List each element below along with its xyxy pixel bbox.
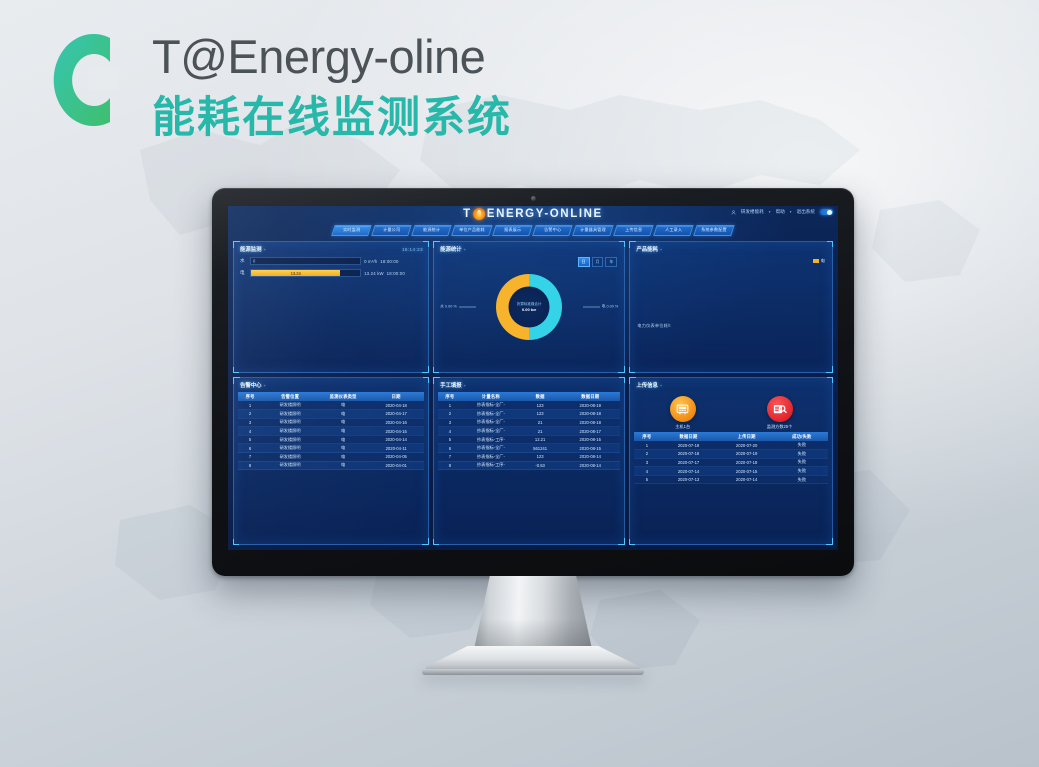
cell: 2020-07-19 — [660, 441, 718, 450]
exit-toggle[interactable] — [820, 209, 833, 215]
energy-time-water: 18:00:00 — [380, 259, 398, 264]
panel-product-energy: 产品能耗 + 电 电力仪表单位耗/t — [629, 241, 833, 373]
cell: 2020-04-18 — [368, 401, 424, 410]
table-row: 6抄表指标-全厂-5612412020-08-15 — [438, 444, 620, 453]
cell: 4 — [634, 467, 659, 476]
exit-label: 退出系统 — [797, 209, 815, 215]
table-row: 1抄表指标-全厂-1232020-08-19 — [438, 401, 620, 410]
nav-tab-label-7: 上传信息 — [625, 228, 642, 234]
cell: 2020-08-14 — [560, 453, 620, 462]
table-row: 2抄表指标-全厂-1232020-08-18 — [438, 410, 620, 419]
th-manual-0: 序号 — [438, 392, 462, 401]
panel-title-text: 能源监测 — [240, 245, 262, 253]
cell: 2020-04-17 — [368, 410, 424, 419]
alarm-table-wrap[interactable]: 序号 告警位置 监测仪表类型 日期 1研发楼照明电2020-04-18 2研发楼… — [234, 391, 428, 543]
status-badge: 失败 — [776, 475, 828, 484]
cell: 电 — [318, 444, 368, 453]
cell: 7 — [438, 453, 462, 462]
cell: 123 — [520, 453, 560, 462]
energy-time-electric: 18:00:00 — [387, 271, 405, 276]
energy-row-electric: 电 13.24 13.24 kW 18:00:00 — [234, 267, 428, 279]
cell: 2020-04-11 — [368, 444, 424, 453]
nav-tab-5[interactable]: 告警中心 — [532, 225, 572, 236]
energy-row-water: 水 0 0 m³/h 18:00:00 — [234, 255, 428, 267]
meter-device-icon — [670, 396, 696, 422]
product-empty-text: 电力仪表单位耗/t — [637, 323, 670, 329]
donut-chart: 水 0.00 % 折算标准煤合计 0.00 tce 电 0.00 % — [434, 259, 624, 355]
brand-header: T@Energy-oline 能耗在线监测系统 — [46, 24, 606, 154]
app-logo: T ENERGY-ONLINE — [463, 208, 603, 220]
upload-stat-label-points: 监测方数25个 — [767, 424, 793, 430]
cell: 2020-07-20 — [718, 441, 776, 450]
cell: 4 — [238, 427, 262, 436]
cell: 2020-04-14 — [368, 435, 424, 444]
table-row: 52020-07-132020-07-14失败 — [634, 475, 828, 484]
manual-table: 序号 计量名称 数据 数据日期 1抄表指标-全厂-1232020-08-19 2… — [438, 392, 620, 470]
cell: 研发楼照明 — [262, 461, 318, 470]
th-upload-2: 上传日期 — [718, 432, 776, 441]
cell: 6 — [438, 444, 462, 453]
cell: 5 — [438, 435, 462, 444]
cell: 电 — [318, 418, 368, 427]
cell: 研发楼照明 — [262, 427, 318, 436]
table-row: 5抄表指标-工序-12.212020-08-15 — [438, 435, 620, 444]
nav-tab-label-2: 能源统计 — [423, 228, 440, 234]
nav-tab-label-0: 实时监测 — [343, 228, 360, 234]
monitor: T ENERGY-ONLINE 研发楼能耗 ▾ 帮助 ▾ 退出系统 — [212, 188, 854, 576]
cell: 6 — [238, 444, 262, 453]
table-header-row: 序号 告警位置 监测仪表类型 日期 — [238, 392, 424, 401]
cell: 电 — [318, 427, 368, 436]
user-icon — [731, 210, 736, 215]
th-manual-1: 计量名称 — [462, 392, 520, 401]
upload-stat-host[interactable]: 主机1台 — [670, 396, 696, 430]
donut-center-line2: 0.00 tce — [509, 307, 549, 312]
alarm-table-body: 1研发楼照明电2020-04-18 2研发楼照明电2020-04-17 3研发楼… — [238, 401, 424, 470]
nav-tab-1[interactable]: 计量公司 — [372, 225, 412, 236]
table-row: 5研发楼照明电2020-04-14 — [238, 435, 424, 444]
cell: 抄表指标-全厂- — [462, 453, 520, 462]
cell: 8 — [438, 461, 462, 470]
cell: 2020-08-18 — [560, 410, 620, 419]
cell: 2020-07-18 — [660, 450, 718, 459]
panel-alarm-center: 告警中心 + 序号 告警位置 监测仪表类型 日期 1研发 — [233, 377, 429, 545]
cell: 123 — [520, 410, 560, 419]
cell: 2020-08-14 — [560, 461, 620, 470]
cell: 12.21 — [520, 435, 560, 444]
cell: 8 — [238, 461, 262, 470]
chevron-down-icon-2[interactable]: ▾ — [790, 210, 792, 214]
status-badge: 失败 — [776, 467, 828, 476]
nav-tab-label-8: 人工录入 — [665, 228, 682, 234]
donut-center-label: 折算标准煤合计 0.00 tce — [509, 302, 549, 312]
energy-bar-electric: 13.24 — [250, 269, 361, 277]
status-badge: 失败 — [776, 458, 828, 467]
panel-title-text-upload: 上传信息 — [636, 381, 658, 389]
monitor-base-lip — [422, 669, 644, 675]
cell: 2020-08-17 — [560, 427, 620, 436]
table-row: 12020-07-192020-07-20失败 — [634, 441, 828, 450]
nav-tab-3[interactable]: 单位产品能耗 — [452, 225, 493, 236]
energy-unit-electric: 13.24 kW 18:00:00 — [364, 271, 422, 276]
cell: 抄表指标-全厂- — [462, 410, 520, 419]
cell: 2020-08-19 — [560, 401, 620, 410]
webcam-icon — [531, 196, 536, 201]
table-row: 32020-07-172020-07-18失败 — [634, 458, 828, 467]
cell: 5 — [238, 435, 262, 444]
cell: 2020-04-01 — [368, 461, 424, 470]
panel-title-product-energy: 产品能耗 + — [630, 242, 832, 255]
cell: 抄表指标-工序- — [462, 435, 520, 444]
cell: 抄表指标-工序- — [462, 461, 520, 470]
panel-row-top: 能源监测 + 16:14:23 水 0 0 m³/h 18:00:00 — [228, 237, 838, 373]
monitor-screen: T ENERGY-ONLINE 研发楼能耗 ▾ 帮助 ▾ 退出系统 — [228, 206, 838, 550]
nav-tab-0[interactable]: 实时监测 — [332, 225, 372, 236]
cell: 2020-08-15 — [560, 444, 620, 453]
legend-label-electric: 电 — [821, 258, 825, 264]
table-row: 8抄表指标-工序--0.532020-08-14 — [438, 461, 620, 470]
panel-title-text-alarm: 告警中心 — [240, 381, 262, 389]
cell: 2020-04-05 — [368, 453, 424, 462]
cell: 2020-07-19 — [718, 450, 776, 459]
cell: 研发楼照明 — [262, 410, 318, 419]
table-row: 3抄表指标-全厂-212020-08-18 — [438, 418, 620, 427]
cell: 研发楼照明 — [262, 444, 318, 453]
upload-stat-points[interactable]: 监测方数25个 — [767, 396, 793, 430]
cell: 561241 — [520, 444, 560, 453]
cell: 电 — [318, 401, 368, 410]
cell: 2 — [238, 410, 262, 419]
panel-row-bottom: 告警中心 + 序号 告警位置 监测仪表类型 日期 1研发 — [228, 373, 838, 550]
cell: 1 — [238, 401, 262, 410]
expand-icon[interactable]: + — [264, 247, 266, 252]
cell: 4 — [438, 427, 462, 436]
cell: 2020-07-14 — [718, 475, 776, 484]
panel-title-text-product: 产品能耗 — [636, 245, 658, 253]
cell: 2 — [438, 410, 462, 419]
table-row: 22020-07-182020-07-19失败 — [634, 450, 828, 459]
table-row: 7抄表指标-全厂-1232020-08-14 — [438, 453, 620, 462]
nav-tab-label-3: 单位产品能耗 — [459, 228, 485, 234]
cell: 研发楼照明 — [262, 453, 318, 462]
energy-row-label-electric: 电 — [240, 270, 247, 276]
panel-time: 16:14:23 — [402, 247, 423, 252]
energy-bar-value-water: 0 — [253, 259, 255, 264]
user-name: 研发楼能耗 — [741, 209, 764, 215]
energy-bar-water: 0 — [250, 257, 361, 265]
expand-icon-stats[interactable]: + — [464, 247, 466, 252]
panel-energy-stats: 能源统计 + 日 月 年 水 0.00 % — [433, 241, 625, 373]
cell: 2020-07-15 — [718, 467, 776, 476]
brand-title-en: T@Energy-oline — [152, 24, 512, 90]
expand-icon-manual[interactable]: + — [464, 383, 466, 388]
th-alarm-1: 告警位置 — [262, 392, 318, 401]
cell: 21 — [520, 427, 560, 436]
cell: 2020-07-18 — [718, 458, 776, 467]
table-row: 8研发楼照明电2020-04-01 — [238, 461, 424, 470]
cell: 抄表指标-全厂- — [462, 427, 520, 436]
th-manual-2: 数据 — [520, 392, 560, 401]
main-nav: 实时监测 计量公司 能源统计 单位产品能耗 报表展示 告警中心 计量器具管理 上… — [228, 224, 838, 237]
nav-tab-label-5: 告警中心 — [544, 228, 561, 234]
panel-title-text-manual: 手工填报 — [440, 381, 462, 389]
dashboard-app: T ENERGY-ONLINE 研发楼能耗 ▾ 帮助 ▾ 退出系统 — [228, 206, 838, 550]
cell: 123 — [520, 401, 560, 410]
cell: 7 — [238, 453, 262, 462]
cell: 3 — [438, 418, 462, 427]
table-row: 2研发楼照明电2020-04-17 — [238, 410, 424, 419]
cell: 1 — [634, 441, 659, 450]
c-swoosh-logo-icon — [52, 28, 118, 132]
expand-icon-upload[interactable]: + — [660, 383, 662, 388]
energy-unit-text-electric: 13.24 kW — [364, 271, 384, 276]
app-logo-suffix: ENERGY-ONLINE — [487, 208, 603, 220]
nav-tab-label-6: 计量器具管理 — [580, 228, 606, 234]
table-header-row: 序号 计量名称 数据 数据日期 — [438, 392, 620, 401]
energy-row-label-water: 水 — [240, 258, 247, 264]
cell: 3 — [634, 458, 659, 467]
donut-label-left-text: 水 0.00 % — [440, 305, 457, 310]
nav-tab-6[interactable]: 计量器具管理 — [572, 225, 613, 236]
cell: 3 — [238, 418, 262, 427]
cell: 2020-07-17 — [660, 458, 718, 467]
flame-at-icon — [473, 208, 485, 220]
panel-title-energy-monitor: 能源监测 + 16:14:23 — [234, 242, 428, 255]
panel-manual-entry: 手工填报 + 序号 计量名称 数据 数据日期 1抄表指标 — [433, 377, 625, 545]
th-alarm-3: 日期 — [368, 392, 424, 401]
product-legend: 电 — [813, 258, 825, 264]
cell: 2020-07-13 — [660, 475, 718, 484]
table-row: 4研发楼照明电2020-04-15 — [238, 427, 424, 436]
th-upload-0: 序号 — [634, 432, 659, 441]
nav-tab-9[interactable]: 系统参数配置 — [693, 225, 734, 236]
user-area[interactable]: 研发楼能耗 ▾ 帮助 ▾ 退出系统 — [731, 209, 833, 215]
expand-icon-alarm[interactable]: + — [264, 383, 266, 388]
status-badge: 失败 — [776, 441, 828, 450]
th-upload-1: 数据日期 — [660, 432, 718, 441]
cell: 2020-07-14 — [660, 467, 718, 476]
cell: 电 — [318, 461, 368, 470]
cell: 研发楼照明 — [262, 418, 318, 427]
app-topbar: T ENERGY-ONLINE 研发楼能耗 ▾ 帮助 ▾ 退出系统 — [228, 206, 838, 224]
energy-unit-text-water: 0 m³/h — [364, 259, 377, 264]
nav-tab-label-1: 计量公司 — [383, 228, 400, 234]
panel-title-manual-entry: 手工填报 + — [434, 378, 624, 391]
cell: 抄表指标-全厂- — [462, 418, 520, 427]
table-row: 6研发楼照明电2020-04-11 — [238, 444, 424, 453]
cell: 2020-08-18 — [560, 418, 620, 427]
manual-table-body: 1抄表指标-全厂-1232020-08-19 2抄表指标-全厂-1232020-… — [438, 401, 620, 470]
upload-table-body: 12020-07-192020-07-20失败 22020-07-182020-… — [634, 441, 828, 484]
cell: 电 — [318, 453, 368, 462]
monitor-neck — [473, 576, 593, 654]
expand-icon-product[interactable]: + — [660, 247, 662, 252]
nav-tab-label-4: 报表展示 — [504, 228, 521, 234]
cell: 研发楼照明 — [262, 435, 318, 444]
energy-unit-water: 0 m³/h 18:00:00 — [364, 259, 422, 264]
cell: 研发楼照明 — [262, 401, 318, 410]
brand-title-cn: 能耗在线监测系统 — [152, 90, 512, 146]
cell: 电 — [318, 410, 368, 419]
upload-stat-row: 主机1台 — [630, 391, 832, 431]
th-alarm-2: 监测仪表类型 — [318, 392, 368, 401]
table-row: 7研发楼照明电2020-04-05 — [238, 453, 424, 462]
cell: 1 — [438, 401, 462, 410]
table-header-row: 序号 数据日期 上传日期 成功/失败 — [634, 432, 828, 441]
panel-upload-info: 上传信息 + — [629, 377, 833, 545]
table-row: 1研发楼照明电2020-04-18 — [238, 401, 424, 410]
donut-leader-right — [583, 307, 600, 308]
cell: -0.53 — [520, 461, 560, 470]
cell: 2020-04-15 — [368, 427, 424, 436]
energy-bar-value-electric: 13.24 — [291, 271, 301, 276]
donut-label-left: 水 0.00 % — [440, 305, 476, 310]
alarm-table: 序号 告警位置 监测仪表类型 日期 1研发楼照明电2020-04-18 2研发楼… — [238, 392, 424, 470]
chevron-down-icon[interactable]: ▾ — [769, 210, 771, 214]
table-row: 4抄表指标-全厂-212020-08-17 — [438, 427, 620, 436]
panel-title-upload-info: 上传信息 + — [630, 378, 832, 391]
panel-title-text-stats: 能源统计 — [440, 245, 462, 253]
th-upload-3: 成功/失败 — [776, 432, 828, 441]
panel-title-alarm-center: 告警中心 + — [234, 378, 428, 391]
cell: 2020-04-16 — [368, 418, 424, 427]
user-secondary[interactable]: 帮助 — [776, 209, 785, 215]
panel-energy-monitor: 能源监测 + 16:14:23 水 0 0 m³/h 18:00:00 — [233, 241, 429, 373]
energy-bar-fill-electric: 13.24 — [251, 270, 340, 276]
table-row: 42020-07-142020-07-15失败 — [634, 467, 828, 476]
nav-tab-label-9: 系统参数配置 — [701, 228, 727, 234]
cell: 电 — [318, 435, 368, 444]
report-search-icon — [767, 396, 793, 422]
cell: 21 — [520, 418, 560, 427]
status-badge: 失败 — [776, 450, 828, 459]
panel-title-energy-stats: 能源统计 + — [434, 242, 624, 255]
cell: 2020-08-15 — [560, 435, 620, 444]
th-alarm-0: 序号 — [238, 392, 262, 401]
app-logo-prefix: T — [463, 208, 472, 220]
donut-label-right: 电 0.00 % — [583, 305, 619, 310]
table-row: 3研发楼照明电2020-04-16 — [238, 418, 424, 427]
donut-leader-left — [459, 307, 476, 308]
upload-table-wrap[interactable]: 序号 数据日期 上传日期 成功/失败 12020-07-192020-07-20… — [630, 431, 832, 484]
nav-tab-8[interactable]: 人工录入 — [653, 225, 693, 236]
nav-tab-7[interactable]: 上传信息 — [613, 225, 653, 236]
cell: 抄表指标-全厂- — [462, 401, 520, 410]
manual-table-wrap[interactable]: 序号 计量名称 数据 数据日期 1抄表指标-全厂-1232020-08-19 2… — [434, 391, 624, 543]
donut-label-right-text: 电 0.00 % — [602, 305, 619, 310]
nav-tab-2[interactable]: 能源统计 — [412, 225, 452, 236]
legend-swatch-electric — [813, 259, 819, 263]
cell: 抄表指标-全厂- — [462, 444, 520, 453]
nav-tab-4[interactable]: 报表展示 — [492, 225, 532, 236]
cell: 2 — [634, 450, 659, 459]
th-manual-3: 数据日期 — [560, 392, 620, 401]
upload-table: 序号 数据日期 上传日期 成功/失败 12020-07-192020-07-20… — [634, 432, 828, 484]
upload-stat-label-host: 主机1台 — [670, 424, 696, 430]
cell: 5 — [634, 475, 659, 484]
